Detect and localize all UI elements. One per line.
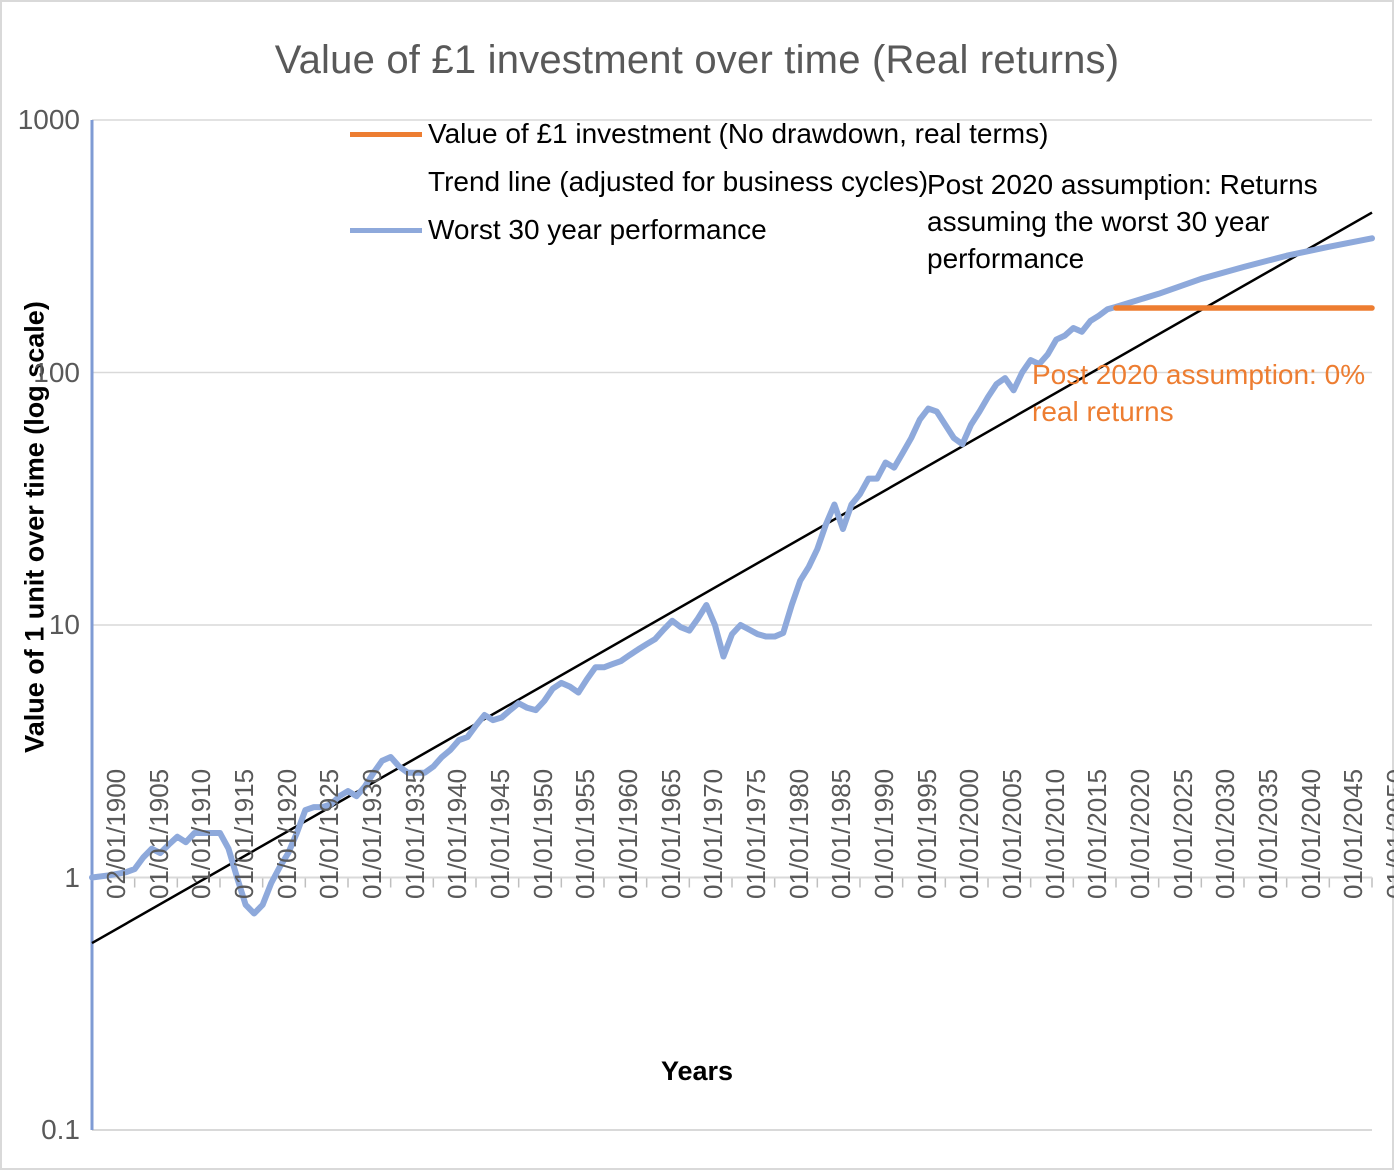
x-tick-label: 01/01/1950 (528, 769, 559, 899)
chart-title: Value of £1 investment over time (Real r… (2, 38, 1392, 83)
legend-swatch-blue (350, 228, 422, 233)
x-tick-label: 01/01/1960 (613, 769, 644, 899)
legend-label-worst-30-year: Worst 30 year performance (428, 214, 767, 246)
x-tick-label: 01/01/1935 (400, 769, 431, 899)
annotation-post-2020-worst-30-year: Post 2020 assumption: Returns assuming t… (927, 167, 1357, 278)
x-tick-label: 01/01/1940 (442, 769, 473, 899)
x-tick-label: 01/01/1990 (869, 769, 900, 899)
x-tick-label: 01/01/1980 (784, 769, 815, 899)
x-tick-label: 01/01/2030 (1210, 769, 1241, 899)
x-tick-label: 01/01/1965 (656, 769, 687, 899)
y-tick-label: 0.1 (41, 1114, 80, 1146)
x-tick-label: 01/01/1970 (698, 769, 729, 899)
y-axis-title: Value of 1 unit over time (log scale) (12, 102, 58, 952)
y-tick-label: 10 (49, 609, 80, 641)
annotation-post-2020-zero-real-returns: Post 2020 assumption: 0% real returns (1032, 357, 1372, 431)
x-tick-label: 01/01/1910 (186, 769, 217, 899)
x-tick-label: 01/01/1930 (357, 769, 388, 899)
x-tick-label: 01/01/2015 (1082, 769, 1113, 899)
x-tick-label: 01/01/2040 (1296, 769, 1327, 899)
x-tick-label: 01/01/1915 (229, 769, 260, 899)
x-tick-label: 01/01/2050 (1381, 769, 1394, 899)
y-tick-label: 100 (33, 357, 80, 389)
x-tick-label: 01/01/1920 (272, 769, 303, 899)
y-tick-label: 1 (64, 862, 80, 894)
legend-item-value-of-1-investment[interactable]: Value of £1 investment (No drawdown, rea… (350, 110, 1070, 158)
x-tick-label: 01/01/2005 (997, 769, 1028, 899)
x-tick-label: 01/01/1995 (912, 769, 943, 899)
x-tick-label: 01/01/2020 (1125, 769, 1156, 899)
x-tick-label: 01/01/1905 (144, 769, 175, 899)
x-tick-label: 02/01/1900 (101, 769, 132, 899)
x-tick-label: 01/01/1985 (826, 769, 857, 899)
x-tick-label: 01/01/2000 (954, 769, 985, 899)
x-tick-label: 01/01/1925 (314, 769, 345, 899)
y-tick-label: 1000 (18, 104, 80, 136)
x-tick-label: 01/01/1955 (570, 769, 601, 899)
x-tick-label: 01/01/2045 (1338, 769, 1369, 899)
legend-label-trend-line: Trend line (adjusted for business cycles… (428, 166, 928, 198)
legend-swatch-trend (350, 180, 422, 185)
x-tick-label: 01/01/2010 (1040, 769, 1071, 899)
legend-swatch-orange (350, 132, 422, 137)
x-tick-label: 01/01/2025 (1168, 769, 1199, 899)
x-axis-title: Years (2, 1056, 1392, 1087)
chart-container: Value of £1 investment over time (Real r… (0, 0, 1394, 1170)
x-tick-label: 01/01/1975 (741, 769, 772, 899)
x-tick-label: 01/01/2035 (1253, 769, 1284, 899)
legend-label-value-of-1-investment: Value of £1 investment (No drawdown, rea… (428, 118, 1048, 150)
x-tick-label: 01/01/1945 (485, 769, 516, 899)
